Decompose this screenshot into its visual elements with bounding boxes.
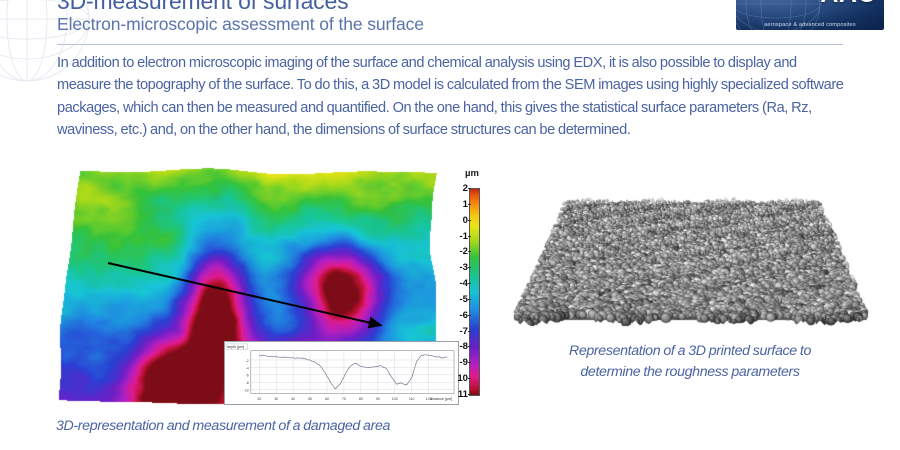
colorbar-tick: -9 (459, 358, 468, 368)
svg-text:100: 100 (392, 397, 398, 401)
right-figure-caption: Representation of a 3D printed surface t… (505, 341, 875, 383)
colorbar-tick: -2 (459, 247, 468, 257)
colorbar-tick-mark (468, 315, 471, 316)
page-title: 3D-measurement of surfaces (57, 0, 348, 15)
left-figure-caption: 3D-representation and measurement of a d… (56, 418, 496, 434)
svg-text:60: 60 (325, 397, 329, 401)
svg-text:50: 50 (308, 397, 312, 401)
header-divider (57, 44, 843, 45)
colorbar-tick: -1 (459, 232, 468, 242)
colorbar-unit-label: µm (465, 168, 479, 179)
svg-text:40: 40 (291, 397, 295, 401)
colorbar-tick-mark (468, 346, 471, 347)
depth-profile-chart: -2-4-6-8-102030405060708090100110120dept… (224, 341, 459, 405)
colorbar-tick-mark (468, 299, 471, 300)
right-caption-line-1: Representation of a 3D printed surface t… (569, 343, 811, 359)
svg-text:-6: -6 (246, 374, 249, 378)
colorbar-tick: 0 (463, 216, 468, 226)
colorbar-tick: -3 (459, 263, 468, 273)
svg-text:70: 70 (342, 397, 346, 401)
colorbar-tick-mark (468, 378, 471, 379)
logo-wordmark: AAC (820, 0, 876, 9)
colorbar-tick-mark (468, 267, 471, 268)
colorbar-tick: -4 (459, 279, 468, 289)
page-subtitle: Electron-microscopic assessment of the s… (57, 14, 424, 35)
svg-text:30: 30 (274, 397, 278, 401)
right-caption-line-2: determine the roughness parameters (580, 364, 799, 380)
colorbar-tick: -7 (459, 327, 468, 337)
body-paragraph: In addition to electron microscopic imag… (57, 52, 847, 141)
svg-text:-2: -2 (246, 359, 249, 363)
logo-tagline: aerospace & advanced composites (736, 22, 884, 28)
colorbar-tick-mark (468, 331, 471, 332)
colorbar-tick-mark (468, 362, 471, 363)
aac-logo: AAC aerospace & advanced composites (736, 0, 884, 30)
colorbar-tick-mark (468, 251, 471, 252)
svg-text:110: 110 (409, 397, 415, 401)
colorbar-tick: -6 (459, 311, 468, 321)
rough-surface-render (505, 186, 875, 336)
svg-text:20: 20 (257, 397, 261, 401)
topography-figure: -2-4-6-8-102030405060708090100110120dept… (52, 163, 442, 410)
rough-surface-figure (505, 186, 875, 336)
colorbar-tick-mark (468, 236, 471, 237)
colorbar-tick: -5 (459, 295, 468, 305)
colorbar-tick-mark (468, 188, 471, 189)
colorbar-tick-mark (468, 220, 471, 221)
colorbar-tick-mark (468, 394, 471, 395)
colorbar-tick: 11 (458, 390, 468, 400)
colorbar-tick: 1 (463, 200, 468, 210)
svg-text:-10: -10 (244, 389, 249, 393)
colorbar-tick: -8 (459, 342, 468, 352)
svg-text:80: 80 (359, 397, 363, 401)
svg-text:depth [µm]: depth [µm] (227, 345, 244, 349)
colorbar-tick-mark (468, 204, 471, 205)
colorbar: µm 210-1-2-3-4-5-6-7-8-91011 (447, 168, 495, 408)
slide-root: 3D-measurement of surfaces Electron-micr… (0, 0, 900, 450)
colorbar-tick: 2 (463, 184, 468, 194)
colorbar-tick-mark (468, 283, 471, 284)
colorbar-tick-labels: 210-1-2-3-4-5-6-7-8-91011 (447, 182, 469, 398)
svg-text:-4: -4 (246, 366, 249, 370)
svg-text:-8: -8 (246, 381, 249, 385)
svg-text:90: 90 (376, 397, 380, 401)
colorbar-tick: 10 (457, 374, 468, 384)
